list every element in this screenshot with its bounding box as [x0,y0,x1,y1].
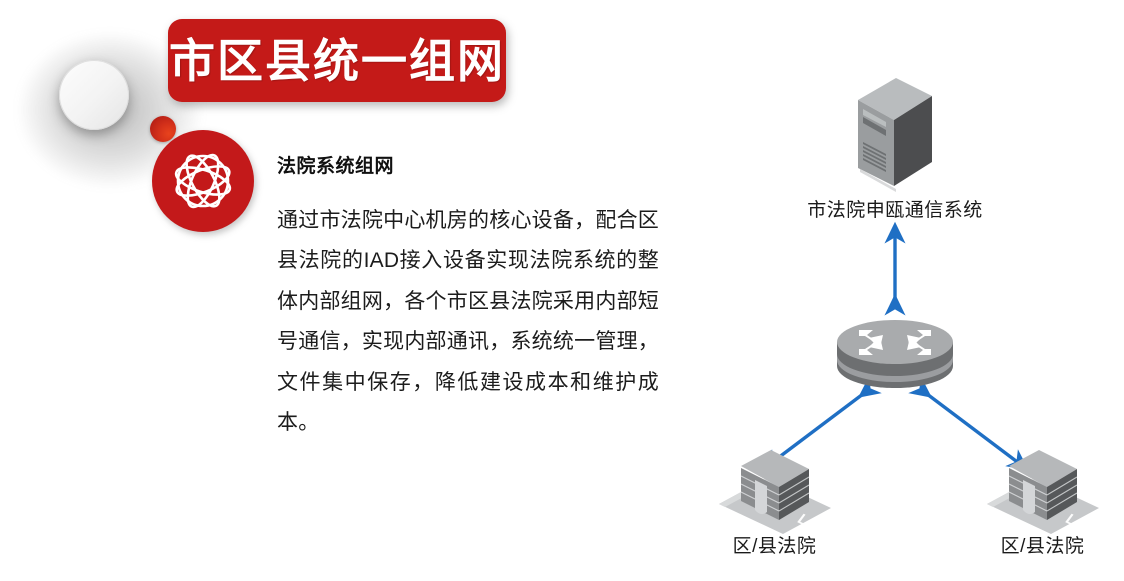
node-server[interactable]: 市法院申瓯通信系统 [800,70,990,223]
courthouse-icon: Law [713,438,837,534]
courthouse-icon: Law [981,438,1105,534]
decorative-white-circle [59,60,129,130]
network-globe-icon [167,145,239,217]
content-body: 通过市法院中心机房的核心设备，配合区县法院的IAD接入设备实现法院系统的整体内部… [277,201,659,444]
node-courthouse-left-label: 区/县法院 [682,536,867,559]
node-courthouse-right-label: 区/县法院 [950,536,1124,559]
page-title: 市区县统一组网 [169,38,505,84]
slide-canvas: 市区县统一组网 法院系统组网 通过市法院中心机房的核心设备，配合区县法院的IAD… [0,0,1124,581]
node-courthouse-left[interactable]: Law 区/县法院 [682,438,867,559]
network-diagram: 市法院申瓯通信系统 Law [660,0,1124,581]
node-server-label: 市法院申瓯通信系统 [800,200,990,223]
server-tower-icon [852,70,938,194]
node-courthouse-right[interactable]: Law 区/县法院 [950,438,1124,559]
title-banner: 市区县统一组网 [168,19,506,102]
content-block: 法院系统组网 通过市法院中心机房的核心设备，配合区县法院的IAD接入设备实现法院… [277,156,659,444]
node-router[interactable] [825,306,965,398]
router-icon [825,306,965,398]
badge-circle [152,130,254,232]
content-heading: 法院系统组网 [277,156,659,179]
decorative-red-dot [150,116,176,142]
